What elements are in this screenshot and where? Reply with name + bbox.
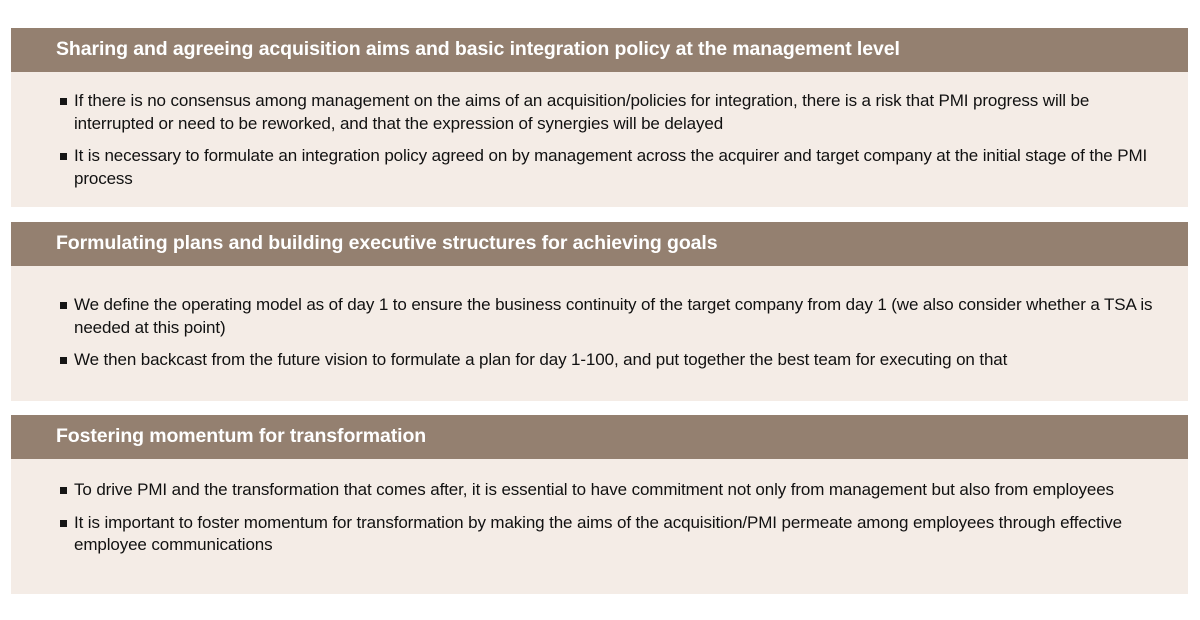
square-bullet-icon bbox=[60, 487, 67, 494]
bullet-text: We define the operating model as of day … bbox=[74, 294, 1166, 339]
section-title-1: Sharing and agreeing acquisition aims an… bbox=[56, 40, 900, 60]
section-block-2: Formulating plans and building executive… bbox=[11, 222, 1188, 401]
bullet-text: If there is no consensus among managemen… bbox=[74, 90, 1166, 135]
bullet-item: It is important to foster momentum for t… bbox=[60, 512, 1166, 557]
section-title-3: Fostering momentum for transformation bbox=[56, 427, 426, 447]
bullet-text: It is necessary to formulate an integrat… bbox=[74, 145, 1166, 190]
bullet-list-3: To drive PMI and the transformation that… bbox=[60, 479, 1166, 557]
section-header-1: Sharing and agreeing acquisition aims an… bbox=[11, 28, 1188, 72]
section-block-3: Fostering momentum for transformation To… bbox=[11, 415, 1188, 594]
square-bullet-icon bbox=[60, 302, 67, 309]
slide-canvas: Sharing and agreeing acquisition aims an… bbox=[0, 0, 1200, 620]
section-block-1: Sharing and agreeing acquisition aims an… bbox=[11, 28, 1188, 207]
section-body-2: We define the operating model as of day … bbox=[11, 266, 1188, 401]
bullet-item: It is necessary to formulate an integrat… bbox=[60, 145, 1166, 190]
section-body-3: To drive PMI and the transformation that… bbox=[11, 459, 1188, 594]
bullet-list-1: If there is no consensus among managemen… bbox=[60, 90, 1166, 190]
square-bullet-icon bbox=[60, 153, 67, 160]
bullet-list-2: We define the operating model as of day … bbox=[60, 294, 1166, 372]
bullet-item: We then backcast from the future vision … bbox=[60, 349, 1166, 372]
section-header-2: Formulating plans and building executive… bbox=[11, 222, 1188, 266]
bullet-item: If there is no consensus among managemen… bbox=[60, 90, 1166, 135]
bullet-item: To drive PMI and the transformation that… bbox=[60, 479, 1166, 502]
section-header-3: Fostering momentum for transformation bbox=[11, 415, 1188, 459]
square-bullet-icon bbox=[60, 357, 67, 364]
bullet-text: We then backcast from the future vision … bbox=[74, 349, 1166, 372]
bullet-text: To drive PMI and the transformation that… bbox=[74, 479, 1166, 502]
square-bullet-icon bbox=[60, 520, 67, 527]
square-bullet-icon bbox=[60, 98, 67, 105]
section-body-1: If there is no consensus among managemen… bbox=[11, 72, 1188, 207]
section-title-2: Formulating plans and building executive… bbox=[56, 234, 717, 254]
bullet-item: We define the operating model as of day … bbox=[60, 294, 1166, 339]
bullet-text: It is important to foster momentum for t… bbox=[74, 512, 1166, 557]
